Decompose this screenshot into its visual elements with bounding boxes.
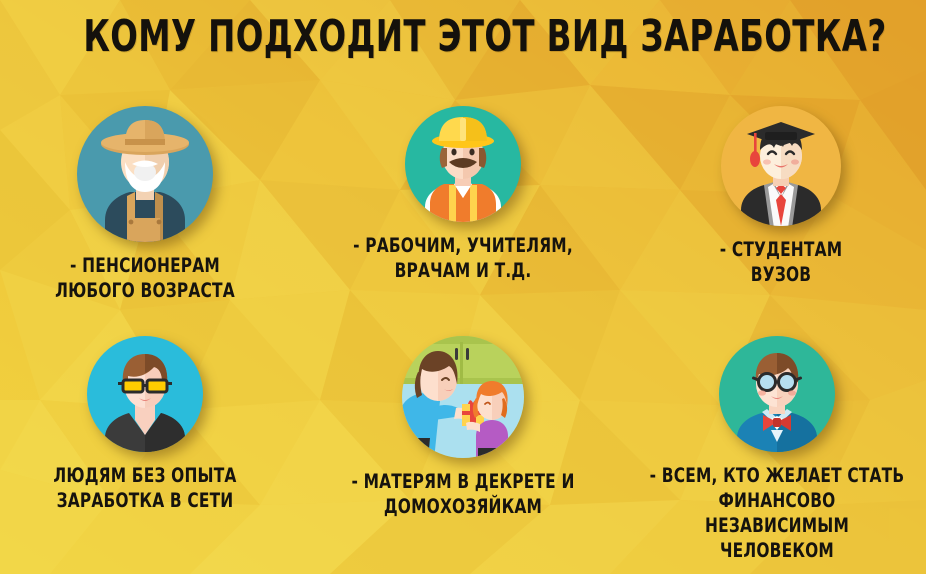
card-beginners: ЛЮДЯМ БЕЗ ОПЫТА ЗАРАБОТКА В СЕТИ [0,334,290,513]
construction-worker-avatar-icon [403,104,523,224]
card-caption: - ВСЕМ, КТО ЖЕЛАЕТ СТАТЬ ФИНАНСОВО НЕЗАВ… [646,463,908,563]
card-workers: - РАБОЧИМ, УЧИТЕЛЯМ, ВРАЧАМ И Т.Д. [310,104,616,283]
page-title: КОМУ ПОДХОДИТ ЭТОТ ВИД ЗАРАБОТКА? [83,12,842,62]
card-caption: - СТУДЕНТАМ ВУЗОВ [653,237,908,287]
card-mothers: - МАТЕРЯМ В ДЕКРЕТЕ И ДОМОХОЗЯЙКАМ [310,334,616,519]
graduate-avatar-icon [719,104,843,228]
sunglasses-person-avatar-icon [85,334,205,454]
card-caption: - РАБОЧИМ, УЧИТЕЛЯМ, ВРАЧАМ И Т.Д. [328,233,597,283]
card-caption: - МАТЕРЯМ В ДЕКРЕТЕ И ДОМОХОЗЯЙКАМ [328,469,597,519]
bowtie-glasses-man-avatar-icon [717,334,837,454]
card-pensioners: - ПЕНСИОНЕРАМ ЛЮБОГО ВОЗРАСТА [0,104,290,303]
farmer-avatar-icon [75,104,215,244]
card-financially-independent: - ВСЕМ, КТО ЖЕЛАЕТ СТАТЬ ФИНАНСОВО НЕЗАВ… [628,334,926,563]
card-caption: ЛЮДЯМ БЕЗ ОПЫТА ЗАРАБОТКА В СЕТИ [17,463,272,513]
infographic-poster: КОМУ ПОДХОДИТ ЭТОТ ВИД ЗАРАБОТКА? [0,0,926,574]
card-students: - СТУДЕНТАМ ВУЗОВ [636,104,926,287]
card-caption: - ПЕНСИОНЕРАМ ЛЮБОГО ВОЗРАСТА [17,253,272,303]
mother-and-child-gift-icon [400,334,526,460]
